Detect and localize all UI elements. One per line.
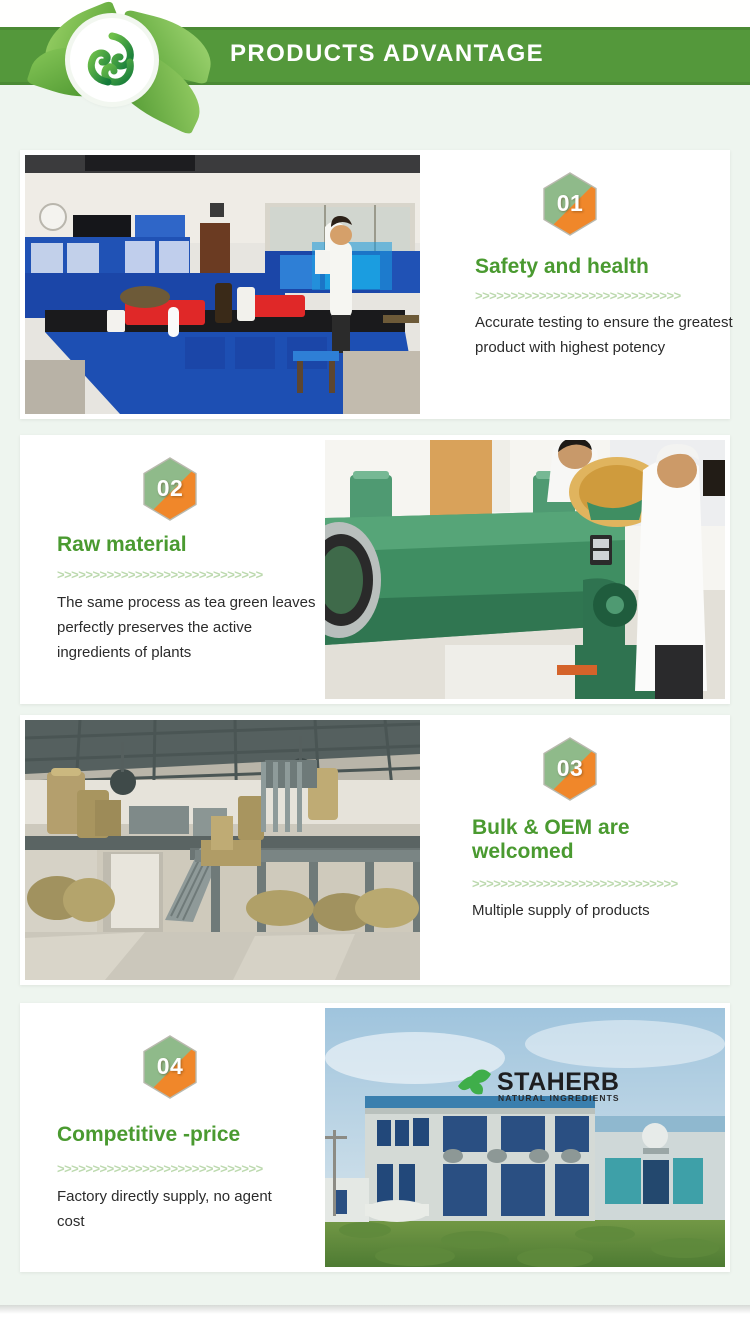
products-advantage-page: PRODUCTS ADVANTAGE <box>0 0 750 1326</box>
advantage-panel-04: 04 Competitive -price >>>>>>>>>>>>>>>>>>… <box>25 1008 325 1267</box>
factory-building-photo: STAHERB NATURAL INGREDIENTS <box>325 1008 725 1267</box>
advantage-panel-02: 02 Raw material >>>>>>>>>>>>>>>>>>>>>>>>… <box>25 440 325 699</box>
logo-swirl-icon <box>80 28 144 92</box>
laboratory-photo <box>25 155 420 414</box>
chevron-divider-03: >>>>>>>>>>>>>>>>>>>>>>>>>>>>> <box>472 876 720 891</box>
page-header: PRODUCTS ADVANTAGE <box>0 0 750 115</box>
svg-text:STAHERB: STAHERB <box>497 1068 619 1096</box>
step-number-02: 02 <box>141 456 199 522</box>
page-title: PRODUCTS ADVANTAGE <box>230 40 690 68</box>
advantage-card-04: STAHERB NATURAL INGREDIENTS <box>20 1003 730 1272</box>
chevron-divider-01: >>>>>>>>>>>>>>>>>>>>>>>>>>>>> <box>475 288 723 303</box>
brand-logo <box>22 2 222 112</box>
tea-roasting-machine-photo <box>325 440 725 699</box>
card-description-03: Multiple supply of products <box>472 898 712 923</box>
extraction-workshop-photo <box>25 720 420 980</box>
chevron-divider-02: >>>>>>>>>>>>>>>>>>>>>>>>>>>>> <box>57 567 305 582</box>
card-title-04: Competitive -price <box>57 1123 327 1147</box>
step-badge-03: 03 <box>541 736 599 802</box>
step-number-01: 01 <box>541 171 599 237</box>
step-badge-04: 04 <box>141 1034 199 1100</box>
advantage-panel-03: 03 Bulk & OEM are welcomed >>>>>>>>>>>>>… <box>425 720 725 980</box>
step-number-03: 03 <box>541 736 599 802</box>
svg-text:NATURAL INGREDIENTS: NATURAL INGREDIENTS <box>498 1093 620 1103</box>
step-number-04: 04 <box>141 1034 199 1100</box>
advantage-card-01: 01 Safety and health >>>>>>>>>>>>>>>>>>>… <box>20 150 730 419</box>
step-badge-02: 02 <box>141 456 199 522</box>
advantage-panel-01: 01 Safety and health >>>>>>>>>>>>>>>>>>>… <box>425 155 725 414</box>
card-title-03: Bulk & OEM are welcomed <box>472 816 687 864</box>
step-badge-01: 01 <box>541 171 599 237</box>
chevron-divider-04: >>>>>>>>>>>>>>>>>>>>>>>>>>>>> <box>57 1161 305 1176</box>
advantage-card-02: 02 Raw material >>>>>>>>>>>>>>>>>>>>>>>>… <box>20 435 730 704</box>
card-title-01: Safety and health <box>475 255 725 279</box>
advantage-card-03: 03 Bulk & OEM are welcomed >>>>>>>>>>>>>… <box>20 715 730 985</box>
card-description-02: The same process as tea green leaves per… <box>57 590 329 665</box>
card-description-04: Factory directly supply, no agent cost <box>57 1184 297 1234</box>
card-title-02: Raw material <box>57 533 317 557</box>
card-description-01: Accurate testing to ensure the greatest … <box>475 310 737 360</box>
